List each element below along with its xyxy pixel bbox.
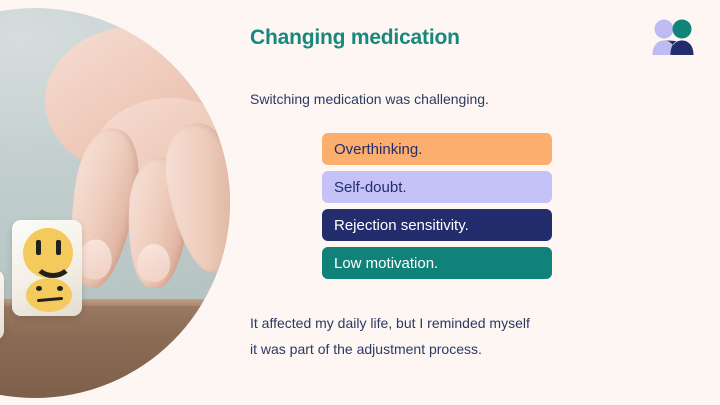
page-title: Changing medication [250, 26, 460, 50]
die-neutral [0, 270, 4, 340]
bar-item-self-doubt[interactable]: Self-doubt. [322, 171, 552, 203]
intro-text: Switching medication was challenging. [250, 91, 489, 107]
closing-text: It affected my daily life, but I reminde… [250, 310, 530, 362]
content-area: Changing medication Switching medication… [250, 0, 720, 405]
closing-line-1: It affected my daily life, but I reminde… [250, 310, 530, 336]
symptom-bar-list: Overthinking. Self-doubt. Rejection sens… [322, 133, 552, 285]
slide: Changing medication Switching medication… [0, 0, 720, 405]
bar-item-rejection-sensitivity[interactable]: Rejection sensitivity. [322, 209, 552, 241]
two-people-icon [650, 18, 696, 56]
bar-label: Overthinking. [334, 141, 422, 158]
bar-item-low-motivation[interactable]: Low motivation. [322, 247, 552, 279]
table-surface [0, 306, 230, 398]
bar-label: Low motivation. [334, 255, 438, 272]
photo-panel [0, 8, 230, 398]
bar-label: Rejection sensitivity. [334, 217, 469, 234]
die-smiley-lifted [12, 220, 82, 316]
bar-label: Self-doubt. [334, 179, 407, 196]
closing-line-2: it was part of the adjustment process. [250, 336, 530, 362]
hand-picking-smiley-dice-photo [0, 8, 230, 398]
bar-item-overthinking[interactable]: Overthinking. [322, 133, 552, 165]
